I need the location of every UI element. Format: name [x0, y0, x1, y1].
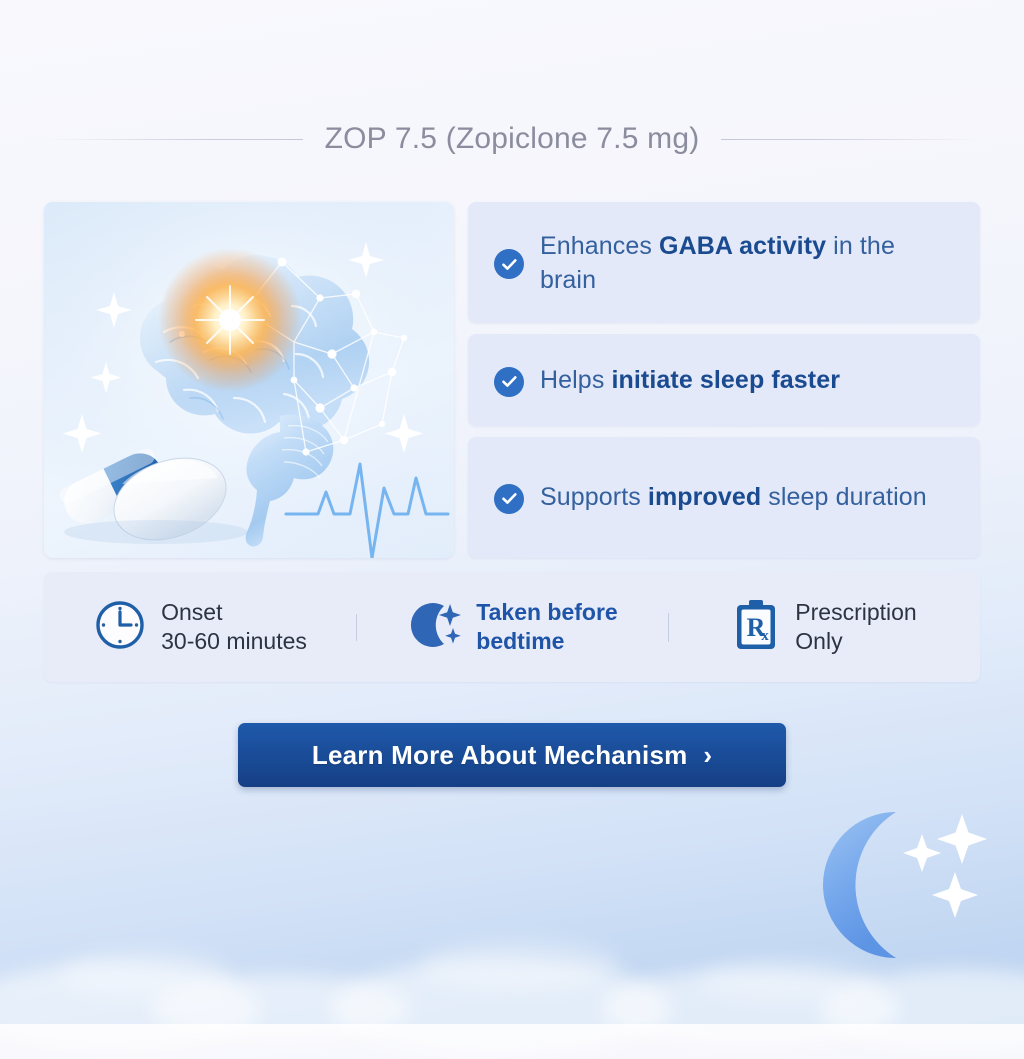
feature-card-list: Enhances GABA activity in the brain Help… [468, 202, 980, 558]
brain-illustration-svg [44, 202, 454, 558]
feature-text-gaba: Enhances GABA activity in the brain [540, 229, 954, 297]
feature-strong: GABA activity [659, 232, 826, 260]
learn-more-button-label: Learn More About Mechanism [312, 740, 688, 771]
info-line2: Only [795, 627, 916, 656]
info-text-onset: Onset 30-60 minutes [161, 598, 307, 657]
info-line1: Taken before [476, 598, 617, 627]
info-item-onset: Onset 30-60 minutes [44, 598, 356, 657]
crescent-moon-icon [823, 812, 896, 958]
learn-more-button[interactable]: Learn More About Mechanism › [238, 723, 786, 787]
check-circle-icon [494, 249, 524, 279]
feature-card-gaba[interactable]: Enhances GABA activity in the brain [468, 202, 980, 323]
info-line2: bedtime [476, 627, 617, 656]
chevron-right-icon: › [703, 742, 712, 768]
feature-prefix: Enhances [540, 232, 659, 260]
svg-text:x: x [762, 628, 770, 644]
info-line1: Prescription [795, 598, 916, 627]
clock-icon [93, 598, 147, 657]
info-strip: Onset 30-60 minutes Taken before bedtime [44, 572, 980, 682]
check-circle-icon [494, 367, 524, 397]
title-divider-right [721, 139, 980, 140]
feature-text-initiate-sleep: Helps initiate sleep faster [540, 363, 840, 397]
info-item-bedtime: Taken before bedtime [356, 598, 668, 657]
poster-canvas: ZOP 7.5 (Zopiclone 7.5 mg) [0, 0, 1024, 1024]
info-text-prescription: Prescription Only [795, 598, 916, 657]
moon-decoration [790, 800, 1000, 970]
page-title: ZOP 7.5 (Zopiclone 7.5 mg) [325, 122, 700, 156]
star-sparkles [903, 814, 987, 918]
brain-illustration-panel [44, 202, 454, 558]
feature-strong: improved [648, 483, 761, 511]
feature-card-sleep-duration[interactable]: Supports improved sleep duration [468, 437, 980, 558]
title-divider-left [44, 139, 303, 140]
feature-card-initiate-sleep[interactable]: Helps initiate sleep faster [468, 334, 980, 425]
info-text-bedtime: Taken before bedtime [476, 598, 617, 657]
feature-prefix: Helps [540, 366, 611, 394]
feature-suffix: sleep duration [761, 483, 927, 511]
check-circle-icon [494, 484, 524, 514]
info-line2: 30-60 minutes [161, 627, 307, 656]
moon-stars-icon [406, 598, 462, 657]
feature-text-sleep-duration: Supports improved sleep duration [540, 480, 927, 514]
activity-hotspot [158, 248, 302, 392]
feature-prefix: Supports [540, 483, 648, 511]
info-item-prescription: R x Prescription Only [668, 597, 980, 658]
info-line1: Onset [161, 598, 307, 627]
prescription-rx-icon: R x [731, 597, 781, 658]
feature-strong: initiate sleep faster [611, 366, 840, 394]
page-title-row: ZOP 7.5 (Zopiclone 7.5 mg) [44, 122, 980, 156]
